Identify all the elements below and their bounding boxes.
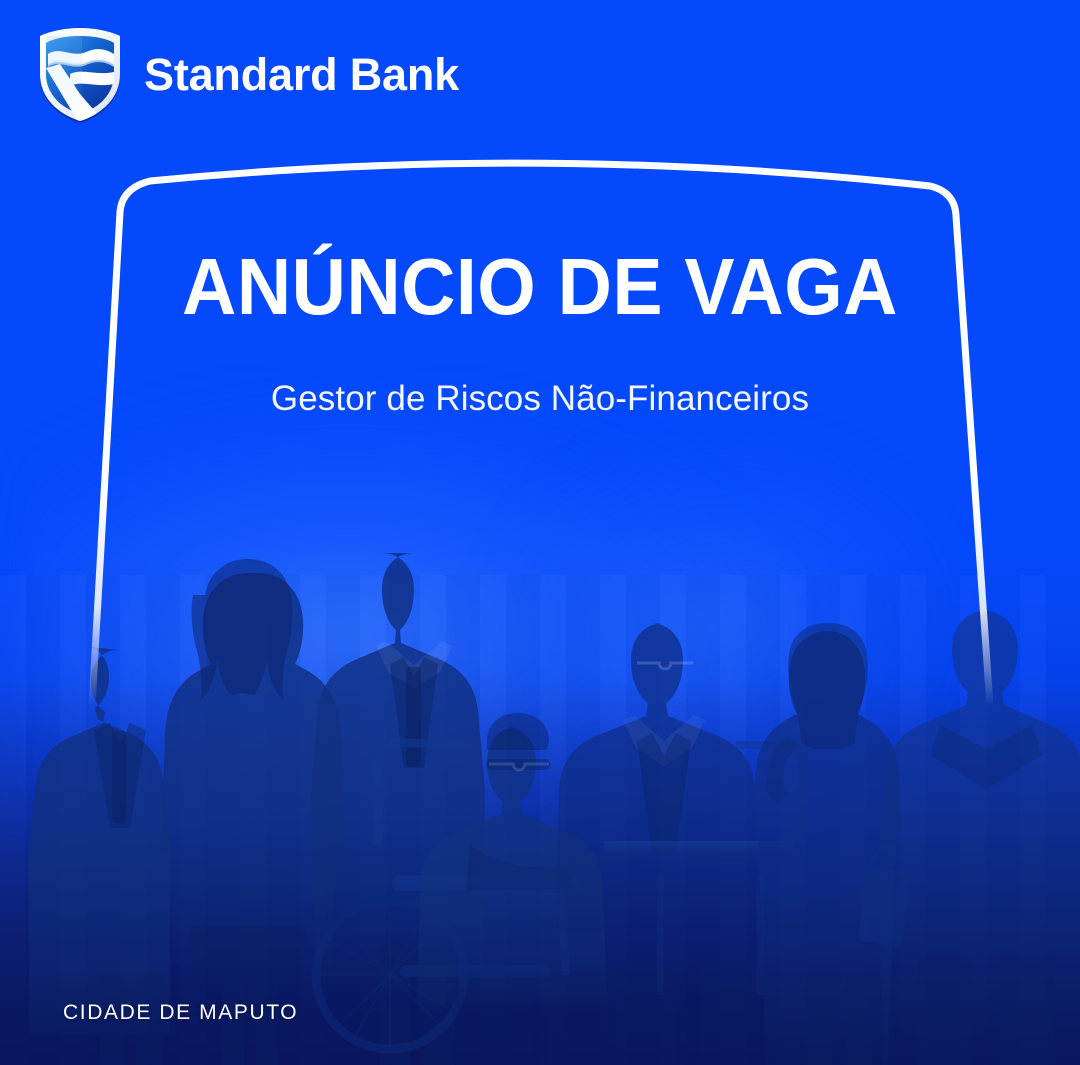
page-title: ANÚNCIO DE VAGA <box>32 246 1047 328</box>
background-gradient <box>0 0 1080 1065</box>
brand-wordmark: Standard Bank <box>144 52 459 97</box>
location-caption: CIDADE DE MAPUTO <box>63 1001 298 1025</box>
headline-block: ANÚNCIO DE VAGA Gestor de Riscos Não-Fin… <box>0 246 1080 418</box>
brand-header: Standard Bank <box>34 24 459 124</box>
job-advert-poster: Standard Bank ANÚNCIO DE VAGA Gestor de … <box>0 0 1080 1065</box>
job-position-subtitle: Gestor de Riscos Não-Financeiros <box>0 380 1080 419</box>
standard-bank-shield-icon <box>34 24 126 124</box>
